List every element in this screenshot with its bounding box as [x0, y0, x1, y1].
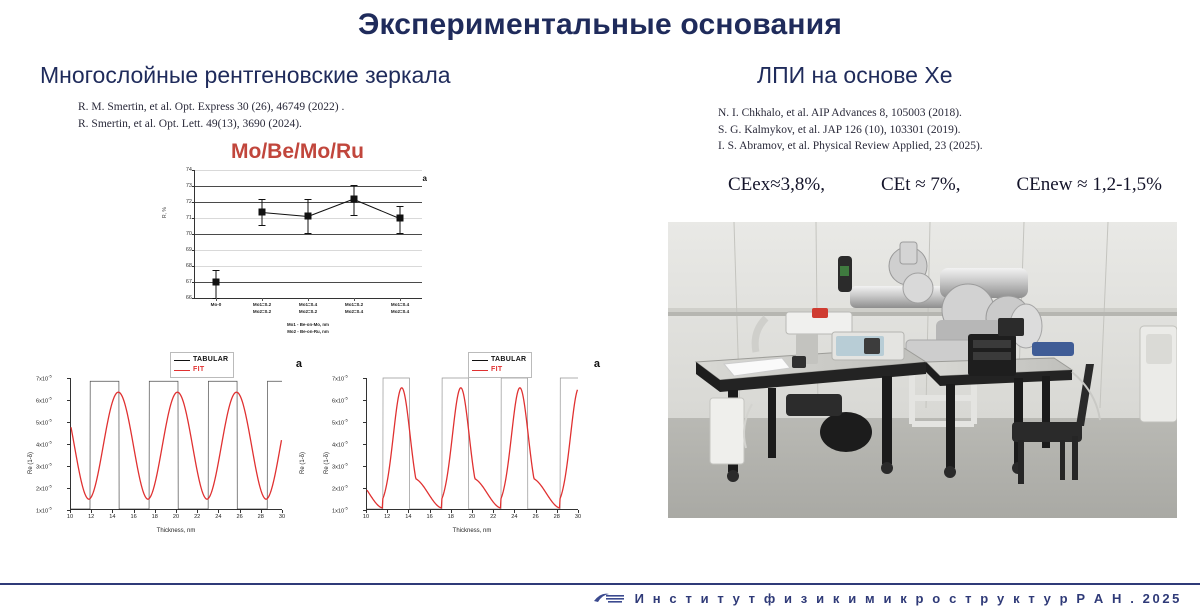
data-marker: [259, 209, 266, 216]
whisker-cap-top: [351, 185, 358, 186]
y-tick-mark: [192, 218, 195, 219]
y-tick-label: 7x10-5: [332, 374, 348, 383]
y-tick-label: 3x10-5: [332, 462, 348, 471]
whisker-cap-bottom: [259, 225, 266, 226]
whisker-cap-bottom: [351, 215, 358, 216]
y-tick-label: 4x10-5: [36, 440, 52, 449]
legend-entry-tabular: TABULAR: [174, 355, 228, 365]
whisker-cap-bottom: [305, 233, 312, 234]
x-tick-mark: [557, 510, 558, 513]
series-tabular: [71, 381, 282, 509]
chart-title: Mo/Be/Mo/Ru: [160, 140, 435, 164]
y-tick-mark: [67, 466, 70, 467]
x-tick-label: 24: [215, 514, 221, 520]
y-axis-title: Re (1-δ): [324, 452, 330, 474]
photo-content: [668, 222, 1177, 518]
data-point-errorbar: [394, 206, 406, 234]
y-tick-mark: [363, 488, 366, 489]
y-tick-label: 3x10-5: [36, 462, 52, 471]
y-tick-mark: [363, 466, 366, 467]
y-tick-mark: [363, 378, 366, 379]
x-tick-label: Mo1=0.4Mo2=0.2: [299, 302, 317, 316]
legend-swatch-fit-icon: [472, 370, 488, 371]
x-tick-label: 12: [384, 514, 390, 520]
gridline: [195, 282, 422, 283]
x-tick-mark: [112, 510, 113, 513]
chart-legend: TABULAR FIT: [468, 352, 532, 378]
x-tick-label: 18: [152, 514, 158, 520]
y-tick-label: 2x10-5: [332, 484, 348, 493]
x-tick-label: 20: [173, 514, 179, 520]
y-tick-label: 1x10-5: [332, 506, 348, 515]
reference-list-left: R. M. Smertin, et al. Opt. Express 30 (2…: [78, 99, 344, 132]
data-point-errorbar: [302, 199, 314, 234]
x-tick-mark: [308, 298, 309, 301]
y-tick-mark: [67, 444, 70, 445]
y-tick-label: 67: [186, 279, 192, 285]
x-tick-label: Mo-0: [211, 302, 222, 309]
x-tick-label: 28: [258, 514, 264, 520]
legend-entry-fit: FIT: [174, 365, 228, 375]
y-tick-mark: [192, 282, 195, 283]
y-tick-mark: [192, 170, 195, 171]
y-tick-mark: [192, 234, 195, 235]
x-tick-label: 14: [109, 514, 115, 520]
reference-item: R. Smertin, et al. Opt. Lett. 49(13), 36…: [78, 116, 344, 133]
data-marker: [397, 215, 404, 222]
chart-plot-area: [70, 378, 282, 510]
x-tick-mark: [493, 510, 494, 513]
gridline: [195, 170, 422, 171]
y-tick-mark: [192, 266, 195, 267]
x-tick-mark: [91, 510, 92, 513]
gridline: [195, 250, 422, 251]
section-heading-mirrors: Многослойные рентгеновские зеркала: [40, 62, 451, 89]
x-tick-label: 16: [130, 514, 136, 520]
footer: И н с т и т у т ф и з и к и м и к р о с …: [0, 585, 1200, 611]
y-axis-title: R, %: [162, 207, 168, 218]
legend-label: TABULAR: [491, 355, 526, 365]
series-fit: [367, 388, 577, 508]
y-tick-label: 1x10-5: [36, 506, 52, 515]
y-tick-label: 6x10-5: [36, 396, 52, 405]
x-tick-label: 26: [532, 514, 538, 520]
whisker-cap-top: [259, 199, 266, 200]
legend-label: FIT: [193, 365, 204, 375]
y-tick-label: 70: [186, 231, 192, 237]
legend-label: FIT: [491, 365, 502, 375]
x-tick-mark: [261, 510, 262, 513]
panel-letter: a: [296, 358, 302, 370]
legend-swatch-fit-icon: [174, 370, 190, 371]
y-tick-label: 6x10-5: [332, 396, 348, 405]
ce-value-new: CEnew ≈ 1,2-1,5%: [1016, 174, 1162, 196]
y-tick-label: 4x10-5: [332, 440, 348, 449]
page-title: Экспериментальные основания: [0, 8, 1200, 42]
legend-entry-fit: FIT: [472, 365, 526, 375]
data-point-errorbar: [256, 199, 268, 226]
x-axis-title: Thickness, nm: [366, 528, 578, 534]
reference-item: S. G. Kalmykov, et al. JAP 126 (10), 103…: [718, 122, 983, 139]
x-tick-label: 28: [554, 514, 560, 520]
x-tick-mark: [282, 510, 283, 513]
x-tick-mark: [400, 298, 401, 301]
x-tick-mark: [216, 298, 217, 301]
reference-list-right: N. I. Chkhalo, et al. AIP Advances 8, 10…: [718, 105, 983, 155]
y-tick-label: 69: [186, 247, 192, 253]
chart-plot-area: 666768697071727374: [194, 170, 422, 298]
lab-setup-photo: [668, 222, 1177, 518]
x-tick-mark: [240, 510, 241, 513]
x-tick-label: 24: [511, 514, 517, 520]
x-tick-mark: [430, 510, 431, 513]
data-point-errorbar: [210, 270, 222, 299]
x-tick-label: 16: [426, 514, 432, 520]
y-tick-label: 73: [186, 183, 192, 189]
reference-item: N. I. Chkhalo, et al. AIP Advances 8, 10…: [718, 105, 983, 122]
x-tick-mark: [408, 510, 409, 513]
x-tick-mark: [134, 510, 135, 513]
panel-letter: a: [594, 358, 600, 370]
x-tick-label: 10: [67, 514, 73, 520]
y-axis-title-right: Re (1-δ): [300, 452, 306, 474]
whisker-cap-top: [213, 270, 220, 271]
y-tick-label: 5x10-5: [332, 418, 348, 427]
y-tick-mark: [67, 400, 70, 401]
whisker-cap-bottom: [397, 233, 404, 234]
chart-reflectivity-errorbar: Mo/Be/Mo/Ru 666768697071727374 R, % a Mo…: [160, 140, 435, 340]
waveform-plot: [71, 378, 282, 509]
x-tick-label: 20: [469, 514, 475, 520]
conversion-efficiency-line: CEex≈3,8%, CEt ≈ 7%, CEnew ≈ 1,2-1,5%: [700, 174, 1190, 196]
x-tick-label: 30: [279, 514, 285, 520]
legend-entry-tabular: TABULAR: [472, 355, 526, 365]
x-tick-mark: [70, 510, 71, 513]
x-tick-label: 22: [490, 514, 496, 520]
chart-plot-area: [366, 378, 578, 510]
whisker-cap-top: [305, 199, 312, 200]
x-tick-mark: [197, 510, 198, 513]
caption-line: Mo1 - Be-on-Mo, nm: [194, 322, 422, 329]
x-tick-mark: [155, 510, 156, 513]
chart-optical-constants-right: TABULAR FIT a Re (1-δ) Thickness, nm 1x1…: [318, 352, 608, 557]
y-tick-label: 66: [186, 295, 192, 301]
x-tick-label: 26: [236, 514, 242, 520]
y-tick-mark: [192, 250, 195, 251]
chart-optical-constants-left: TABULAR FIT a Re (1-δ) Re (1-δ) Thicknes…: [22, 352, 312, 557]
legend-label: TABULAR: [193, 355, 228, 365]
whisker-cap-top: [397, 206, 404, 207]
panel-letter: a: [423, 174, 427, 183]
y-axis-title: Re (1-δ): [28, 452, 34, 474]
data-marker: [351, 195, 358, 202]
y-tick-mark: [67, 488, 70, 489]
data-marker: [305, 213, 312, 220]
x-tick-mark: [472, 510, 473, 513]
y-tick-mark: [67, 422, 70, 423]
x-tick-mark: [536, 510, 537, 513]
x-tick-mark: [176, 510, 177, 513]
institute-logo-icon: [592, 590, 626, 606]
gridline: [195, 186, 422, 187]
reference-item: I. S. Abramov, et al. Physical Review Ap…: [718, 138, 983, 155]
y-tick-mark: [192, 186, 195, 187]
footer-text: И н с т и т у т ф и з и к и м и к р о с …: [635, 591, 1182, 606]
y-tick-label: 5x10-5: [36, 418, 52, 427]
x-tick-mark: [387, 510, 388, 513]
section-heading-xe-source: ЛПИ на основе Хе: [757, 62, 953, 89]
y-tick-label: 71: [186, 215, 192, 221]
y-tick-label: 68: [186, 263, 192, 269]
x-axis-title: Thickness, nm: [70, 528, 282, 534]
chart-legend: TABULAR FIT: [170, 352, 234, 378]
x-tick-label: Mo1=0.2Mo2=0.4: [345, 302, 363, 316]
x-tick-mark: [366, 510, 367, 513]
y-tick-mark: [192, 202, 195, 203]
y-tick-mark: [363, 444, 366, 445]
x-tick-mark: [578, 510, 579, 513]
y-tick-label: 2x10-5: [36, 484, 52, 493]
x-axis-caption: Mo1 - Be-on-Mo, nmMo2 - Be-on-Ru, nm: [194, 322, 422, 335]
y-tick-mark: [363, 400, 366, 401]
slide-root: Экспериментальные основания Многослойные…: [0, 0, 1200, 611]
x-tick-label: 18: [448, 514, 454, 520]
y-tick-mark: [363, 422, 366, 423]
y-tick-label: 72: [186, 199, 192, 205]
x-tick-label: 14: [405, 514, 411, 520]
legend-swatch-tabular-icon: [472, 360, 488, 361]
x-tick-mark: [354, 298, 355, 301]
x-tick-label: 12: [88, 514, 94, 520]
y-tick-mark: [67, 378, 70, 379]
reference-item: R. M. Smertin, et al. Opt. Express 30 (2…: [78, 99, 344, 116]
x-tick-label: Mo1=0.4Mo2=0.4: [391, 302, 409, 316]
waveform-plot: [367, 378, 578, 509]
data-marker: [213, 279, 220, 286]
y-tick-label: 74: [186, 167, 192, 173]
data-point-errorbar: [348, 185, 360, 216]
x-tick-mark: [218, 510, 219, 513]
x-tick-label: 22: [194, 514, 200, 520]
legend-swatch-tabular-icon: [174, 360, 190, 361]
x-tick-label: Mo1=0.2Mo2=0.2: [253, 302, 271, 316]
ce-value-t: CEt ≈ 7%,: [881, 174, 961, 196]
x-tick-label: 30: [575, 514, 581, 520]
caption-line: Mo2 - Be-on-Ru, nm: [194, 329, 422, 336]
ce-value-ex: CEex≈3,8%,: [728, 174, 825, 196]
x-tick-mark: [514, 510, 515, 513]
x-tick-mark: [451, 510, 452, 513]
gridline: [195, 266, 422, 267]
series-fit: [71, 392, 281, 499]
y-tick-label: 7x10-5: [36, 374, 52, 383]
x-tick-mark: [262, 298, 263, 301]
gridline: [195, 234, 422, 235]
x-tick-label: 10: [363, 514, 369, 520]
